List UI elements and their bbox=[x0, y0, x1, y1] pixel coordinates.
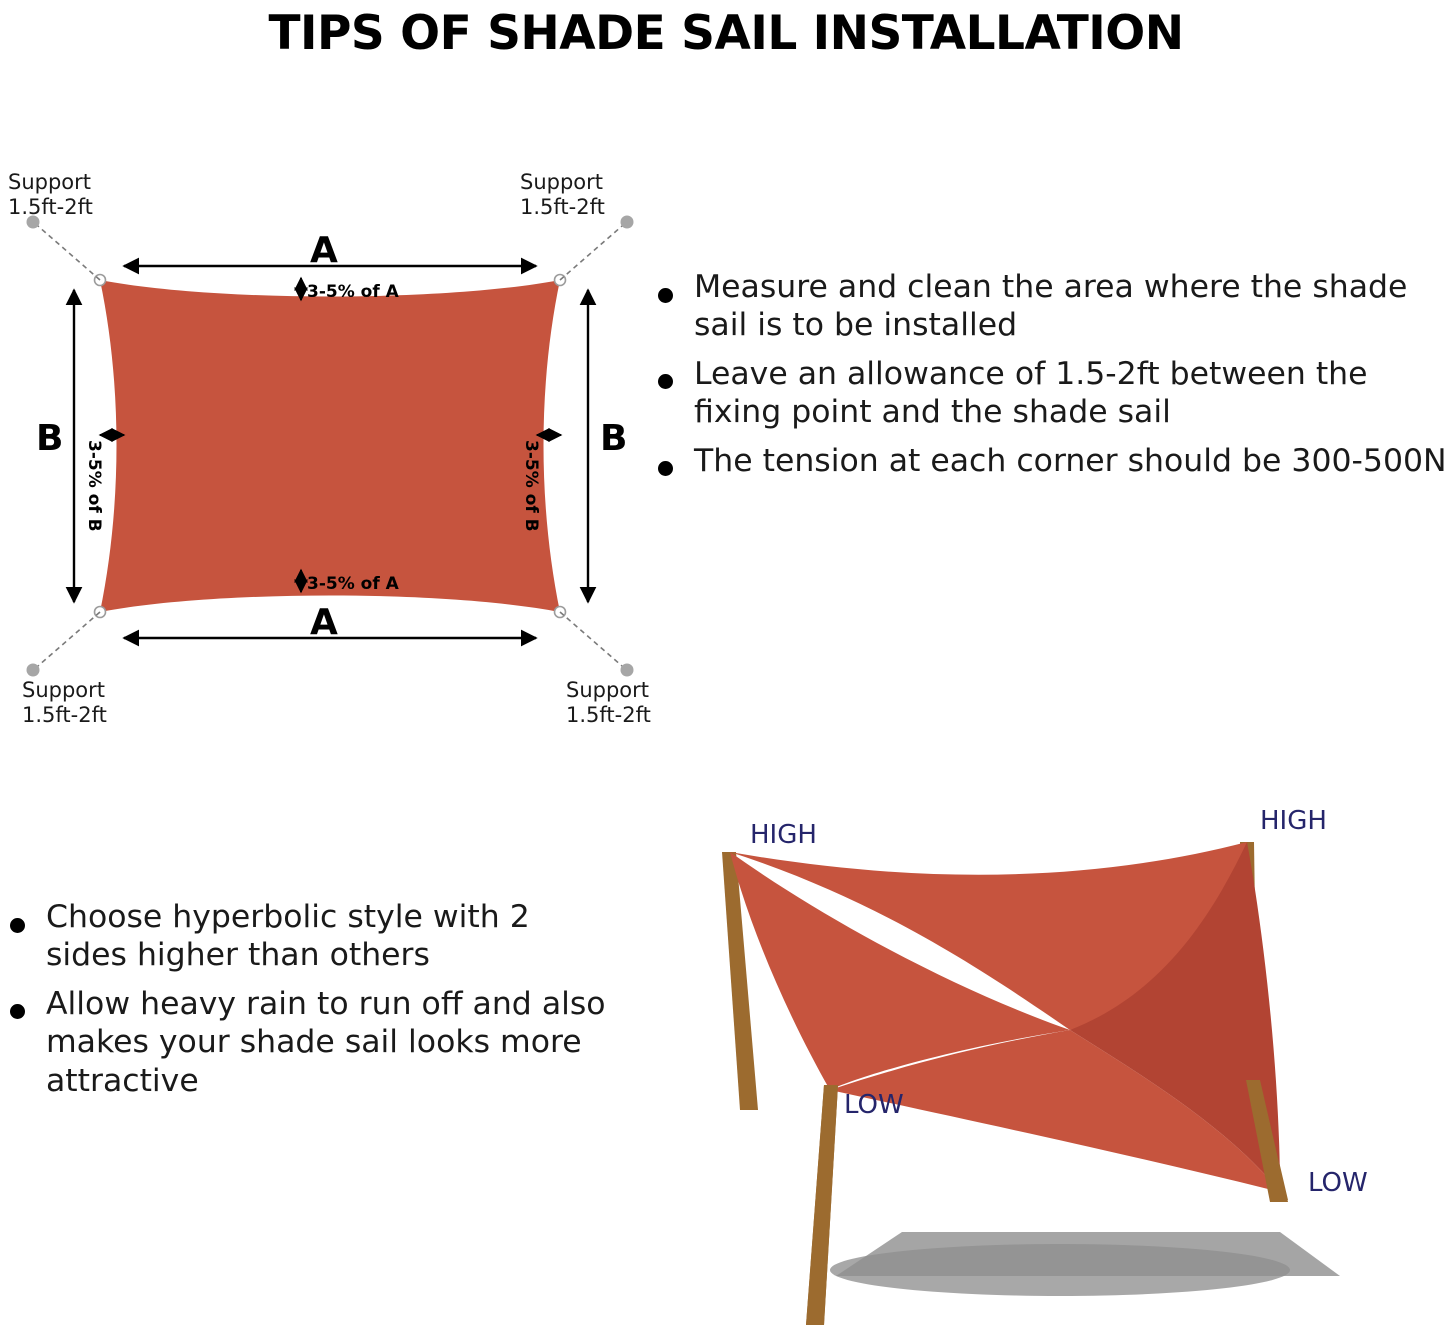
list-item-text: Leave an allowance of 1.5-2ft between th… bbox=[694, 356, 1368, 430]
label-low-right: LOW bbox=[1308, 1168, 1368, 1198]
label-low-left: LOW bbox=[844, 1090, 904, 1120]
list-item-text: Choose hyperbolic style with 2 sides hig… bbox=[46, 899, 530, 973]
bullet-dot-icon bbox=[10, 918, 25, 933]
page-title: TIPS OF SHADE SAIL INSTALLATION bbox=[0, 6, 1452, 61]
support-label-top-right: Support 1.5ft-2ft bbox=[520, 170, 605, 220]
bullet-dot-icon bbox=[658, 461, 673, 476]
dimension-label-right-b: B bbox=[600, 418, 627, 459]
list-item: Choose hyperbolic style with 2 sides hig… bbox=[0, 898, 620, 975]
list-item-text: The tension at each corner should be 300… bbox=[694, 443, 1447, 479]
support-label-bottom-left: Support 1.5ft-2ft bbox=[22, 678, 107, 728]
bullet-dot-icon bbox=[10, 1004, 25, 1019]
label-high-right: HIGH bbox=[1260, 806, 1327, 836]
bullet-dot-icon bbox=[658, 288, 673, 303]
sag-label-top: 3-5% of A bbox=[307, 282, 399, 302]
dimension-label-bottom-a: A bbox=[310, 602, 338, 643]
hyperbolic-style-tips-list: Choose hyperbolic style with 2 sides hig… bbox=[0, 898, 620, 1110]
support-label-bottom-right: Support 1.5ft-2ft bbox=[566, 678, 651, 728]
support-line-top-right bbox=[560, 226, 622, 280]
bullet-dot-icon bbox=[658, 374, 673, 389]
support-dot-bottom-left bbox=[27, 664, 40, 677]
dimension-label-left-b: B bbox=[36, 418, 63, 459]
label-high-left: HIGH bbox=[750, 820, 817, 850]
pole-low-left-front bbox=[806, 1085, 838, 1325]
sail-body bbox=[100, 280, 560, 612]
support-label-bottom-left-line1: Support bbox=[22, 678, 105, 702]
support-label-top-right-line1: Support bbox=[520, 170, 603, 194]
support-label-bottom-right-line1: Support bbox=[566, 678, 649, 702]
sag-label-left: 3-5% of B bbox=[84, 440, 104, 532]
rectangular-shade-sail-dimension-diagram: Support 1.5ft-2ft Support 1.5ft-2ft Supp… bbox=[0, 150, 660, 750]
support-line-bottom-right bbox=[560, 612, 622, 666]
list-item: The tension at each corner should be 300… bbox=[648, 442, 1448, 480]
dimension-label-top-a: A bbox=[310, 230, 338, 271]
support-line-top-left bbox=[38, 226, 100, 280]
support-label-top-left: Support 1.5ft-2ft bbox=[8, 170, 93, 220]
shadow-quad bbox=[836, 1232, 1340, 1276]
support-label-top-right-line2: 1.5ft-2ft bbox=[520, 195, 605, 219]
support-line-bottom-left bbox=[38, 612, 100, 666]
installation-tips-list: Measure and clean the area where the sha… bbox=[648, 268, 1448, 490]
hyper-diagram-svg bbox=[640, 780, 1452, 1325]
sag-label-bottom: 3-5% of A bbox=[307, 574, 399, 594]
support-label-top-left-line2: 1.5ft-2ft bbox=[8, 195, 93, 219]
list-item-text: Measure and clean the area where the sha… bbox=[694, 269, 1407, 343]
list-item: Leave an allowance of 1.5-2ft between th… bbox=[648, 355, 1448, 432]
list-item: Measure and clean the area where the sha… bbox=[648, 268, 1448, 345]
support-label-bottom-right-line2: 1.5ft-2ft bbox=[566, 703, 651, 727]
hyperbolic-shade-sail-diagram: HIGH HIGH LOW LOW bbox=[640, 780, 1452, 1325]
support-dot-bottom-right bbox=[621, 664, 634, 677]
support-label-bottom-left-line2: 1.5ft-2ft bbox=[22, 703, 107, 727]
list-item-text: Allow heavy rain to run off and also mak… bbox=[46, 986, 606, 1099]
list-item: Allow heavy rain to run off and also mak… bbox=[0, 985, 620, 1100]
sag-label-right: 3-5% of B bbox=[521, 440, 541, 532]
support-dot-top-right bbox=[621, 216, 634, 229]
support-label-top-left-line1: Support bbox=[8, 170, 91, 194]
